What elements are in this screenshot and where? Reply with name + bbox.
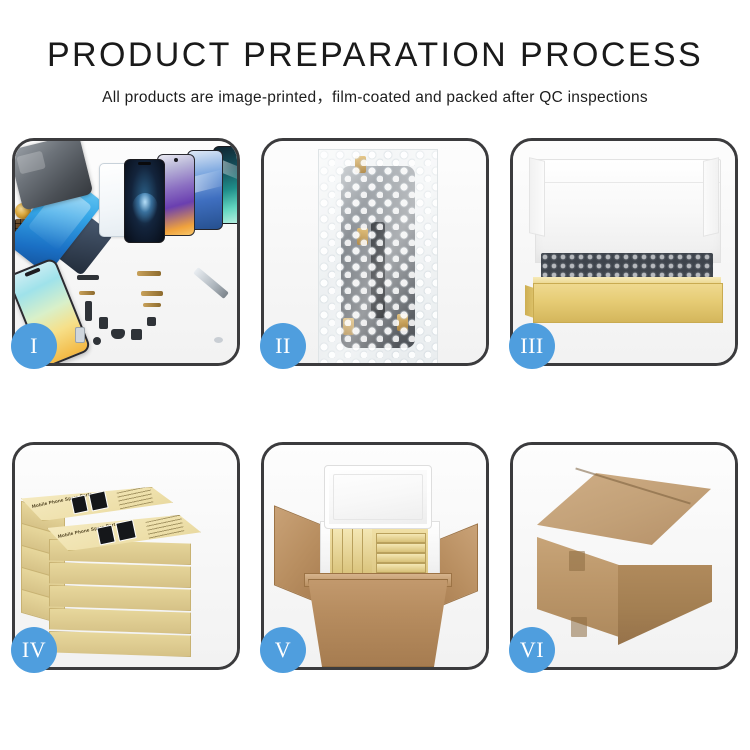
lid-flap-left	[529, 157, 545, 237]
inner-box-3	[352, 529, 362, 577]
bubble-wrap-bag	[318, 149, 438, 363]
process-step-1: I	[12, 138, 240, 366]
box-back-spec-text	[117, 486, 154, 510]
flex-cable-2-icon	[141, 291, 163, 296]
part-small-icon	[85, 301, 92, 321]
step-5-badge: V	[260, 627, 306, 673]
bubble-texture	[319, 150, 437, 363]
step-4-badge: IV	[11, 627, 57, 673]
stack-front-layer-3	[49, 585, 191, 611]
box-front-product-shot-2	[115, 519, 137, 541]
box-front-product-shot-1	[96, 525, 115, 546]
kraft-tray-front	[533, 283, 723, 323]
white-box-lid	[535, 159, 721, 263]
box-front-spec-text	[146, 514, 185, 539]
part-block-icon	[99, 317, 108, 329]
inner-box-1	[332, 529, 342, 577]
product-preparation-infographic: PRODUCT PREPARATION PROCESS All products…	[0, 0, 750, 750]
step-6-badge: VI	[509, 627, 555, 673]
stack-front-layer-5	[49, 631, 191, 657]
part-bar-icon	[77, 275, 99, 280]
header: PRODUCT PREPARATION PROCESS All products…	[0, 0, 750, 107]
part-button-icon	[93, 337, 101, 345]
kraft-boxes-inside	[330, 529, 428, 577]
box-back-top-face: Mobile Phone Spare Parts	[21, 487, 173, 521]
inner-box-7	[376, 553, 426, 563]
box-back-product-shot-2	[88, 490, 108, 511]
step-2-badge: II	[260, 323, 306, 369]
carton-tape-upper	[569, 551, 585, 571]
flex-cable-4-icon	[79, 291, 95, 295]
process-step-6: VI	[510, 442, 738, 670]
page-title: PRODUCT PREPARATION PROCESS	[0, 38, 750, 72]
carton-body	[308, 579, 448, 667]
part-chip-small-icon	[131, 329, 142, 340]
stack-front-layer-2	[49, 562, 191, 588]
process-step-2: II	[261, 138, 489, 366]
process-step-5: V	[261, 442, 489, 670]
inner-box-4	[362, 529, 372, 577]
lid-flap-right	[703, 157, 719, 237]
screw-icon	[214, 337, 223, 343]
step-3-badge: III	[509, 323, 555, 369]
part-camera-icon	[111, 329, 125, 339]
flex-cable-3-icon	[143, 303, 161, 307]
inner-box-8	[376, 563, 426, 573]
process-step-4: Mobile Phone Spare Parts Mobile Phone Sp…	[12, 442, 240, 670]
page-subtitle: All products are image-printed，film-coat…	[0, 85, 750, 107]
stack-front-layer-4	[49, 608, 191, 634]
box-back-product-shot-1	[70, 495, 88, 515]
process-step-grid: I II	[12, 138, 738, 670]
flex-cable-1-icon	[137, 271, 161, 276]
carton-side-face	[618, 565, 712, 645]
phone-dark-icon	[124, 159, 165, 243]
inner-box-2	[342, 529, 352, 577]
tweezers-icon	[193, 267, 229, 299]
part-dot-icon	[147, 317, 156, 326]
process-step-3: III	[510, 138, 738, 366]
inner-box-5	[376, 533, 426, 543]
step-1-badge: I	[11, 323, 57, 369]
inner-box-6	[376, 543, 426, 553]
foam-lid	[324, 465, 432, 529]
carton-tape-lower	[571, 617, 587, 637]
part-tray-icon	[75, 327, 85, 343]
